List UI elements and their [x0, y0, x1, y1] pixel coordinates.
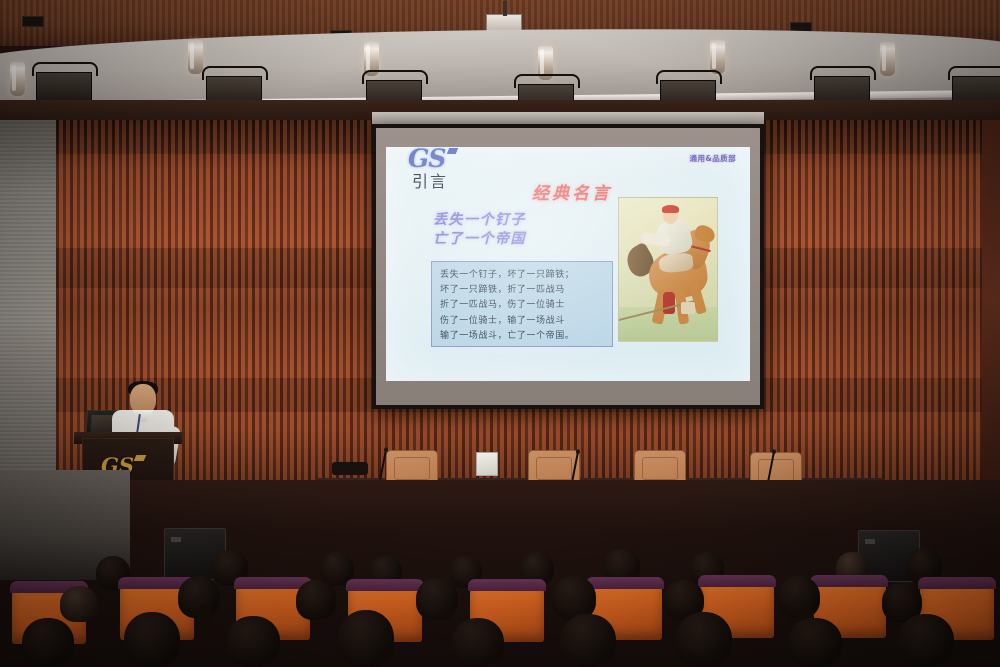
audience-head	[416, 578, 458, 620]
audience-ponytail	[198, 606, 212, 632]
slide-gs-accent-icon	[447, 148, 458, 154]
audience-head	[22, 618, 74, 667]
poem-line: 折了一匹战马，伤了一位骑士	[440, 298, 604, 313]
left-wall-pillar	[0, 120, 56, 480]
poem-line: 伤了一位骑士，输了一场战斗	[440, 314, 604, 329]
seat-back	[810, 575, 888, 587]
podium-gs-accent-icon	[134, 455, 147, 461]
spotlight-yoke	[810, 66, 876, 80]
audience-head	[296, 580, 336, 620]
slide-subtitle: 丢失一个钉子 亡了一个帝国	[433, 211, 526, 249]
audience-head	[226, 616, 280, 667]
audience-head	[338, 610, 394, 667]
audience-head	[898, 614, 954, 667]
spotlight-yoke	[656, 70, 722, 84]
ceiling-can-light	[880, 42, 895, 76]
ceiling-can-light	[710, 40, 725, 74]
tissue-box	[476, 452, 498, 476]
seat-back	[586, 577, 664, 589]
seat-back	[918, 577, 996, 589]
right-wall-edge	[982, 120, 1000, 480]
audience-head	[60, 586, 98, 622]
ceiling-vent	[22, 16, 44, 27]
poem-line: 丢失一个钉子，坏了一只蹄铁；	[440, 268, 604, 283]
knight-helmet	[662, 205, 679, 213]
audience-head	[452, 618, 504, 667]
seat-back	[698, 575, 776, 587]
audience-head	[560, 614, 616, 667]
slide-subtitle-line-2: 亡了一个帝国	[433, 230, 526, 249]
slide-poem-box: 丢失一个钉子，坏了一只蹄铁； 坏了一只蹄铁，折了一匹战马 折了一匹战马，伤了一位…	[431, 261, 613, 347]
auditorium-scene: GS 通用&品质部 引言 经典名言 丢失一个钉子 亡了一个帝国 丢失一个钉子，坏…	[0, 0, 1000, 667]
lance-tip	[681, 302, 695, 314]
audience-head	[778, 576, 820, 618]
slide-heading: 经典名言	[532, 179, 612, 204]
poem-line: 输了一场战斗，亡了一个帝国。	[440, 329, 604, 344]
slide-title: 引言	[412, 168, 448, 192]
slide-subtitle-line-1: 丢失一个钉子	[433, 211, 526, 230]
audience-head	[676, 612, 732, 667]
audience-head	[788, 618, 842, 667]
ceiling-can-light	[10, 62, 25, 96]
seat-back	[468, 579, 546, 591]
audience-head	[124, 612, 180, 667]
spotlight-yoke	[362, 70, 428, 84]
spotlight-yoke	[514, 74, 580, 88]
ceiling-can-light	[188, 40, 203, 74]
spotlight-yoke	[202, 66, 268, 80]
projected-slide: GS 通用&品质部 引言 经典名言 丢失一个钉子 亡了一个帝国 丢失一个钉子，坏…	[386, 147, 750, 381]
knight-boot	[663, 292, 675, 314]
slide-knight-illustration	[618, 197, 718, 342]
spotlight-yoke	[948, 66, 1000, 80]
slide-department-label: 通用&品质部	[690, 153, 736, 164]
poem-line: 坏了一只蹄铁，折了一匹战马	[440, 283, 604, 298]
table-object	[332, 462, 368, 475]
spotlight-yoke	[32, 62, 98, 76]
seat-back	[346, 579, 424, 591]
projector-pole	[503, 1, 507, 16]
